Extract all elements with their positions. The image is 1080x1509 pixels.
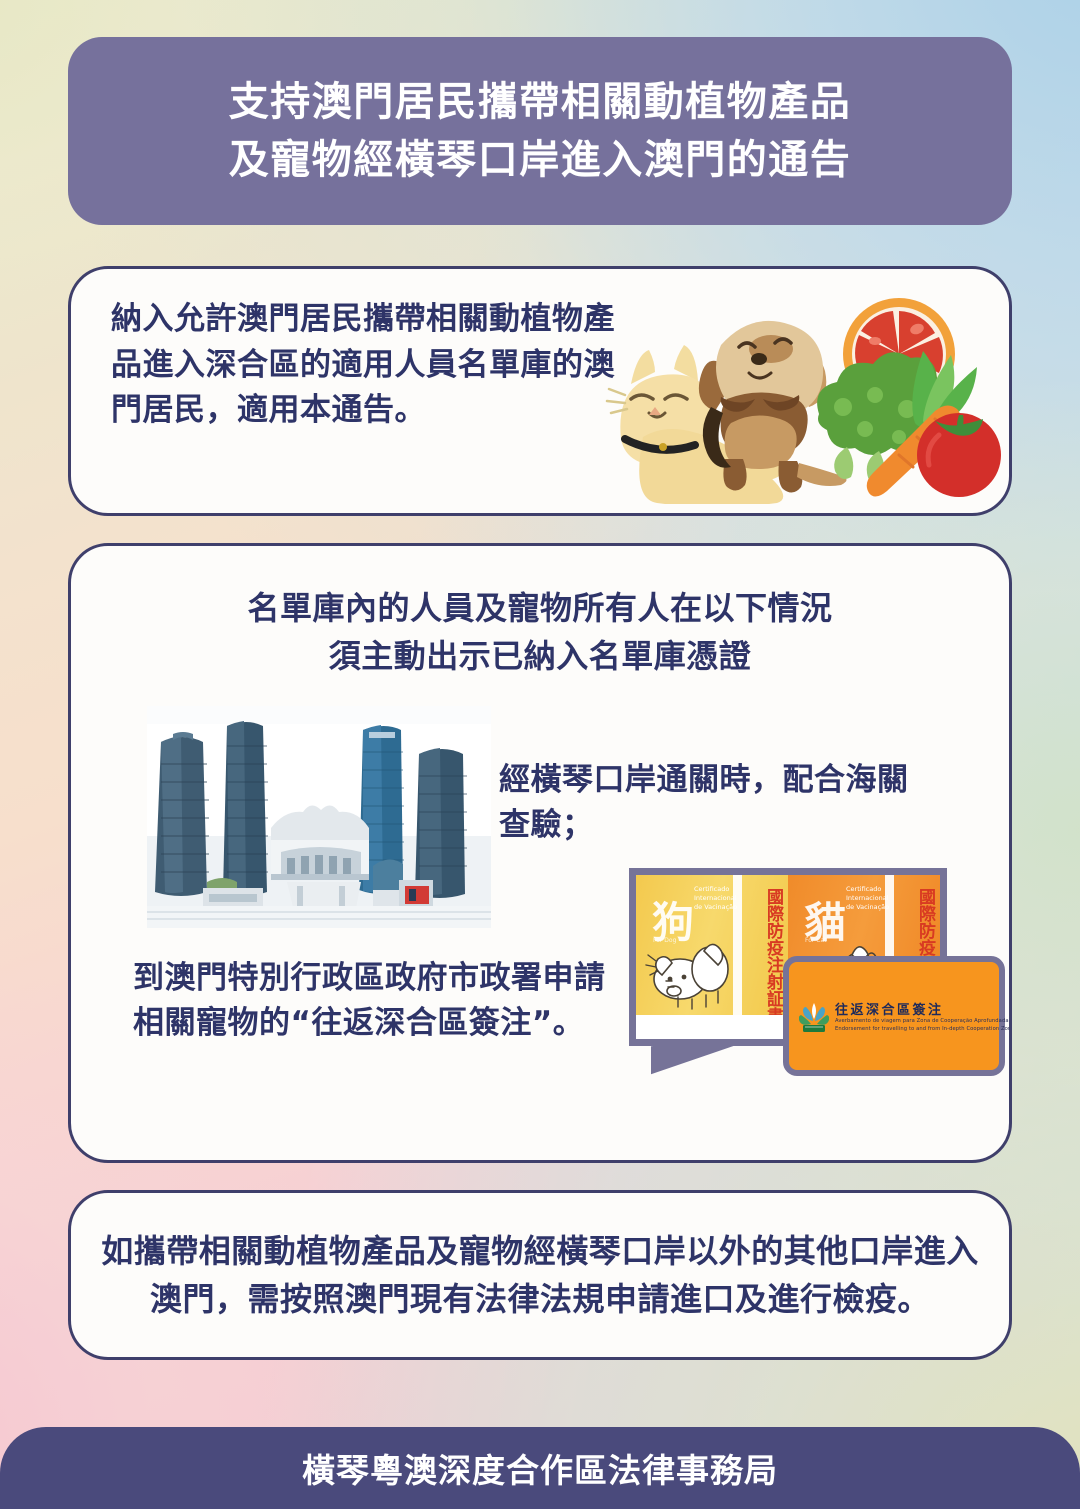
macau-lotus-logo-icon [799,999,829,1033]
card-requirements-heading-line-2: 須主動出示已納入名單庫憑證 [71,632,1009,680]
permit-card-en: Endorsement for travelling to and from I… [835,1026,1012,1034]
card-scope: 納入允許澳門居民攜帶相關動植物產品進入深合區的適用人員名單庫的澳門居民，適用本通… [68,266,1012,516]
travel-permit-card: 往返深合區簽注 Averbamento de viagem para Zona … [783,956,1005,1076]
tomato-icon [917,413,1001,497]
tower-4 [415,748,467,898]
port-building [271,805,369,880]
footer-bar: 橫琴粵澳深度合作區法律事務局 [0,1427,1080,1509]
permit-card-pt: Averbamento de viagem para Zona de Coope… [835,1018,1012,1026]
card-requirements-item-2: 到澳門特別行政區政府市政署申請相關寵物的“往返深合區簽注”。 [133,956,633,1046]
hengqin-port-photo [147,706,491,928]
card-other-ports-text: 如攜帶相關動植物產品及寵物經橫琴口岸以外的其他口岸進入澳門，需按照澳門現有法律法… [71,1227,1009,1323]
dog-vaccination-certificate: 狗 For Dog Certificado Internacional de V… [636,875,788,1039]
tower-2 [223,721,268,896]
card-requirements: 名單庫內的人員及寵物所有人在以下情況 須主動出示已納入名單庫憑證 [68,543,1012,1163]
dog-line-drawing-icon [644,935,740,1013]
poster-root: 支持澳門居民攜帶相關動植物產品 及寵物經橫琴口岸進入澳門的通告 納入允許澳門居民… [0,0,1080,1509]
poster-title-bar: 支持澳門居民攜帶相關動植物產品 及寵物經橫琴口岸進入澳門的通告 [68,37,1012,225]
footer-organisation-name: 橫琴粵澳深度合作區法律事務局 [302,1444,778,1492]
card-other-ports: 如攜帶相關動植物產品及寵物經橫琴口岸以外的其他口岸進入澳門，需按照澳門現有法律法… [68,1190,1012,1360]
card-requirements-heading: 名單庫內的人員及寵物所有人在以下情況 須主動出示已納入名單庫憑證 [71,584,1009,680]
card-requirements-item-1: 經橫琴口岸通關時，配合海關查驗； [499,758,939,848]
poster-title-line-1: 支持澳門居民攜帶相關動植物產品 [229,73,852,131]
tower-1 [155,732,209,896]
card-requirements-heading-line-1: 名單庫內的人員及寵物所有人在以下情況 [71,584,1009,632]
certificates-bubble: 狗 For Dog Certificado Internacional de V… [629,868,947,1068]
permit-card-zh: 往返深合區簽注 [835,999,1012,1018]
card-scope-text: 納入允許澳門居民攜帶相關動植物產品進入深合區的適用人員名單庫的澳門居民，適用本通… [111,297,631,434]
poster-title-line-2: 及寵物經橫琴口岸進入澳門的通告 [229,131,852,189]
dog-cert-vertical-title: 國際防疫注射証書 [744,881,782,1031]
permit-card-texts: 往返深合區簽注 Averbamento de viagem para Zona … [835,999,1012,1034]
dog-cert-footer-band [636,1015,788,1039]
pets-and-produce-illustration [603,289,1003,504]
